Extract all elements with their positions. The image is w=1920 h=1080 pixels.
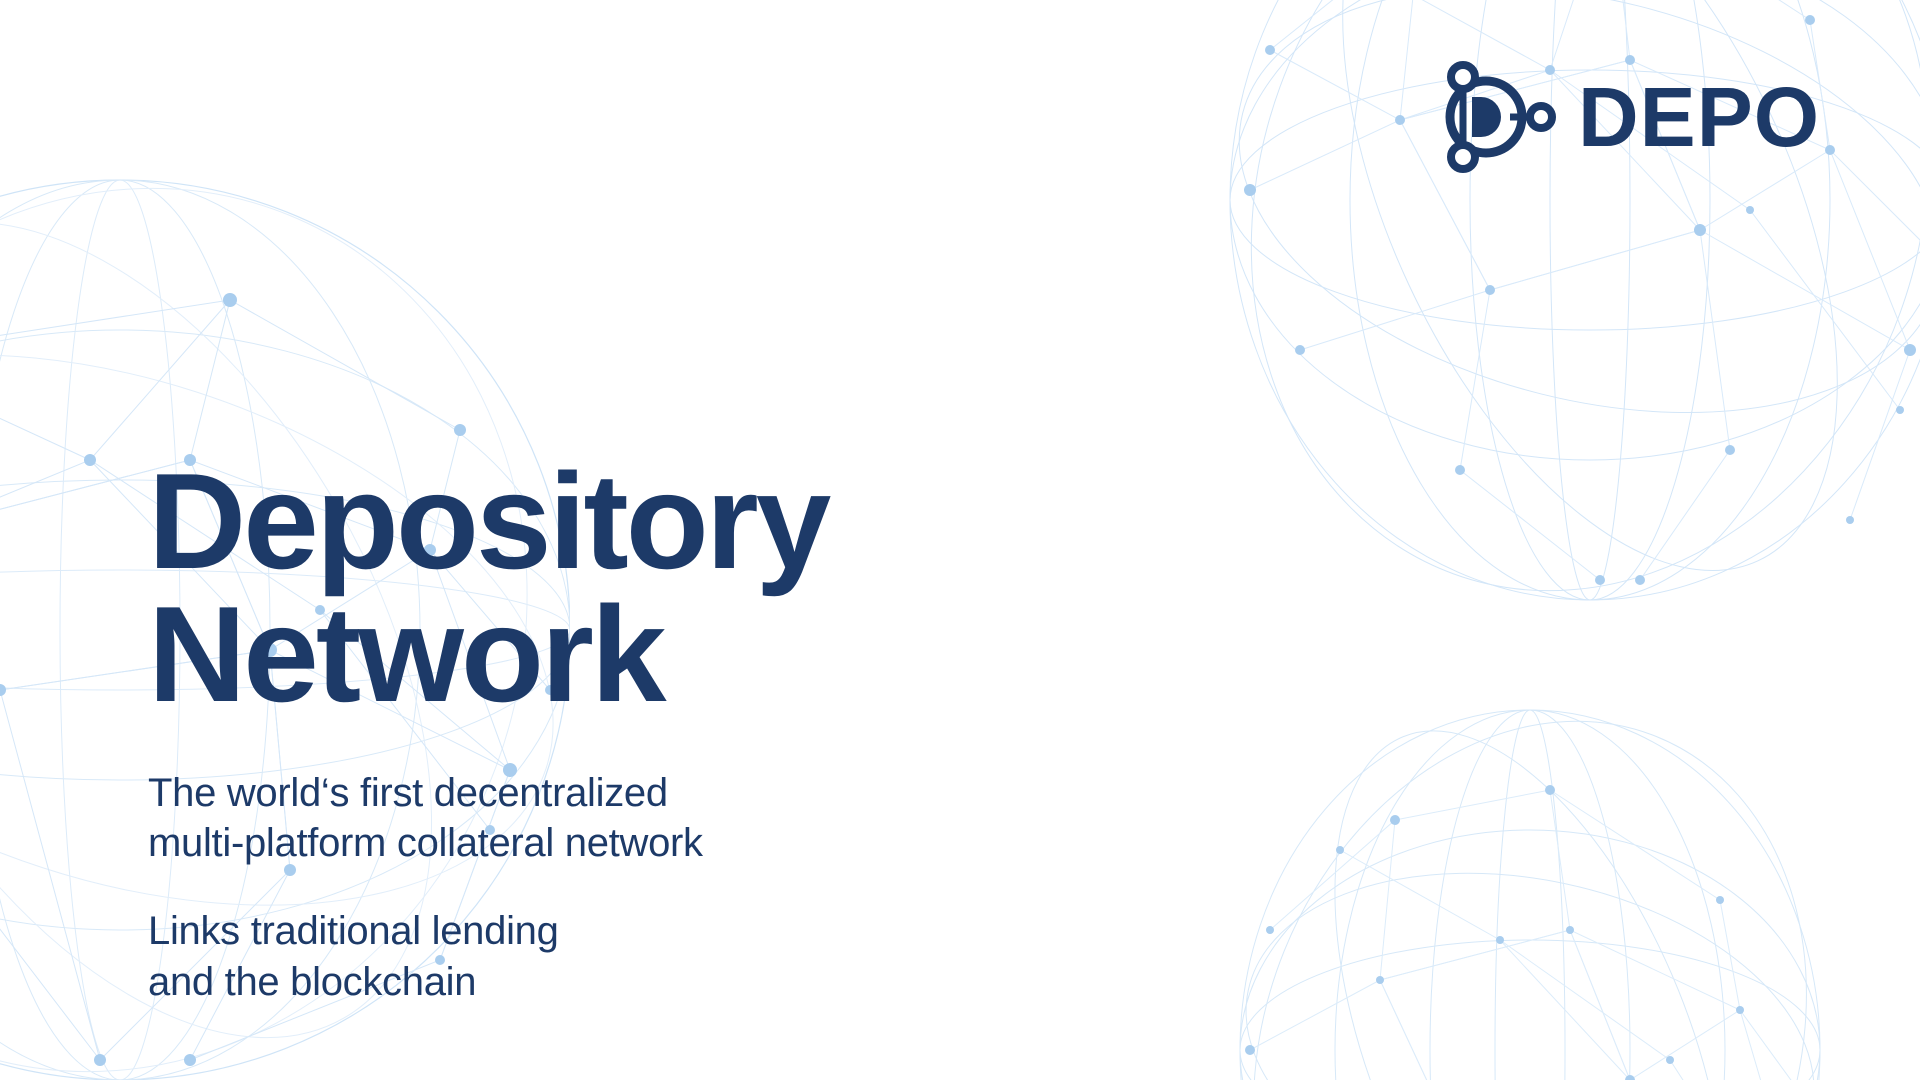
hero-block: Depository Network The world‘s first dec… bbox=[148, 455, 1068, 1007]
hero-subtitle-primary: The world‘s first decentralized multi-pl… bbox=[148, 768, 1068, 869]
depo-logo-lockup[interactable]: DEPO bbox=[1436, 58, 1820, 176]
brand-wordmark: DEPO bbox=[1578, 75, 1820, 159]
depo-node-d-icon bbox=[1436, 58, 1556, 176]
network-globe-icon bbox=[1220, 700, 1840, 1080]
page-title: Depository Network bbox=[148, 455, 1068, 722]
hero-subtitle-secondary: Links traditional lending and the blockc… bbox=[148, 906, 1068, 1007]
slide-canvas: DEPO Depository Network The world‘s firs… bbox=[0, 0, 1920, 1080]
